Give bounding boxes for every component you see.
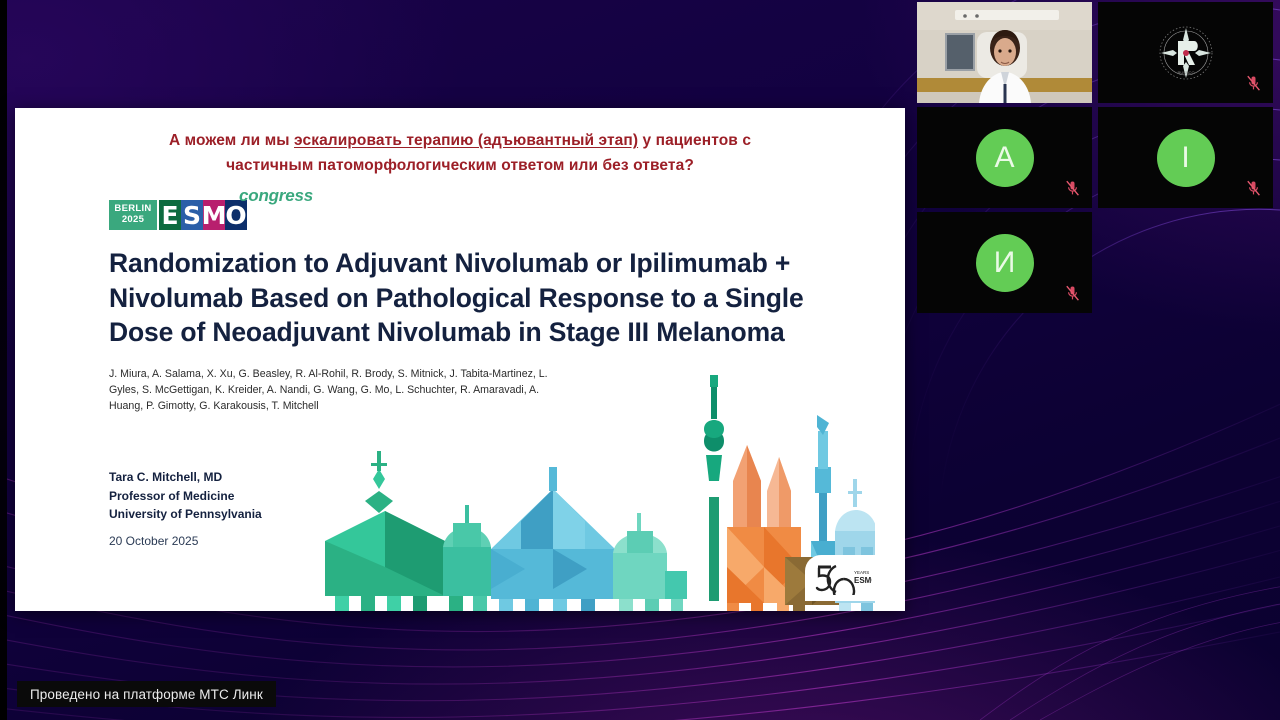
presenter-role: Professor of Medicine (109, 487, 262, 506)
esmo-letter-s: S (181, 200, 203, 230)
avatar: И (976, 234, 1034, 292)
mic-muted-icon (1065, 285, 1080, 302)
esmo-wordmark: E S M O (159, 200, 247, 230)
camera-video-feed (917, 2, 1092, 103)
presenter-affiliation: University of Pennsylvania (109, 505, 262, 524)
berlin-skyline-illustration (315, 371, 875, 611)
participant-tile-camera[interactable] (917, 2, 1092, 103)
slide-title: Randomization to Adjuvant Nivolumab or I… (109, 246, 829, 350)
avatar: I (1157, 129, 1215, 187)
presenter-name: Tara C. Mitchell, MD (109, 468, 262, 487)
question-text-underlined: эскалировать терапию (адъювантный этап) (294, 132, 638, 149)
esmo-50-org-text: ESMO (854, 576, 872, 585)
participant-tile-avatar-i-cyr[interactable]: И (917, 212, 1092, 313)
slide-question-heading: А можем ли мы эскалировать терапию (адъю… (51, 128, 869, 178)
esmo-berlin-badge: BERLIN 2025 (109, 200, 157, 230)
participant-tile-logo[interactable]: RUSSCO (1098, 2, 1273, 103)
avatar: A (976, 129, 1034, 187)
avatar-initial: A (994, 141, 1014, 175)
question-text-pre: А можем ли мы (169, 132, 294, 149)
participant-tile-avatar-i[interactable]: I (1098, 107, 1273, 208)
mic-muted-icon (1065, 180, 1080, 197)
esmo-letter-e: E (159, 200, 181, 230)
esmo-berlin-year: 2025 (122, 215, 144, 226)
r-emblem-icon: RUSSCO (1151, 18, 1221, 88)
platform-badge: Проведено на платформе МТС Линк (17, 681, 276, 707)
participant-tile-grid: RUSSCO A I (917, 2, 1277, 315)
question-text-post: у пациентов с (638, 132, 751, 149)
presentation-slide[interactable]: А можем ли мы эскалировать терапию (адъю… (15, 108, 905, 611)
esmo-50-mark: YEARS ESMO (812, 561, 872, 595)
left-edge-vignette (0, 0, 7, 720)
slide-presenter-block: Tara C. Mitchell, MD Professor of Medici… (109, 468, 262, 550)
mic-muted-icon (1246, 180, 1261, 197)
esmo-congress-logo: BERLIN 2025 E S M O congress (109, 200, 247, 230)
participant-tile-avatar-a[interactable]: A (917, 107, 1092, 208)
avatar-initial: I (1181, 141, 1189, 175)
mic-muted-icon (1246, 75, 1261, 92)
esmo-congress-word: congress (239, 186, 313, 206)
question-text-line2: частичным патоморфологическим ответом ил… (226, 157, 694, 174)
esmo-50-years-badge: YEARS ESMO (805, 555, 879, 601)
presenter-date: 20 October 2025 (109, 532, 262, 551)
meeting-stage: А можем ли мы эскалировать терапию (адъю… (0, 0, 1280, 720)
svg-text:RUSSCO: RUSSCO (1177, 70, 1194, 75)
esmo-letter-m: M (203, 200, 225, 230)
esmo-50-years-text: YEARS (854, 570, 869, 575)
platform-badge-text: Проведено на платформе МТС Линк (30, 687, 263, 702)
avatar-initial: И (994, 246, 1016, 280)
